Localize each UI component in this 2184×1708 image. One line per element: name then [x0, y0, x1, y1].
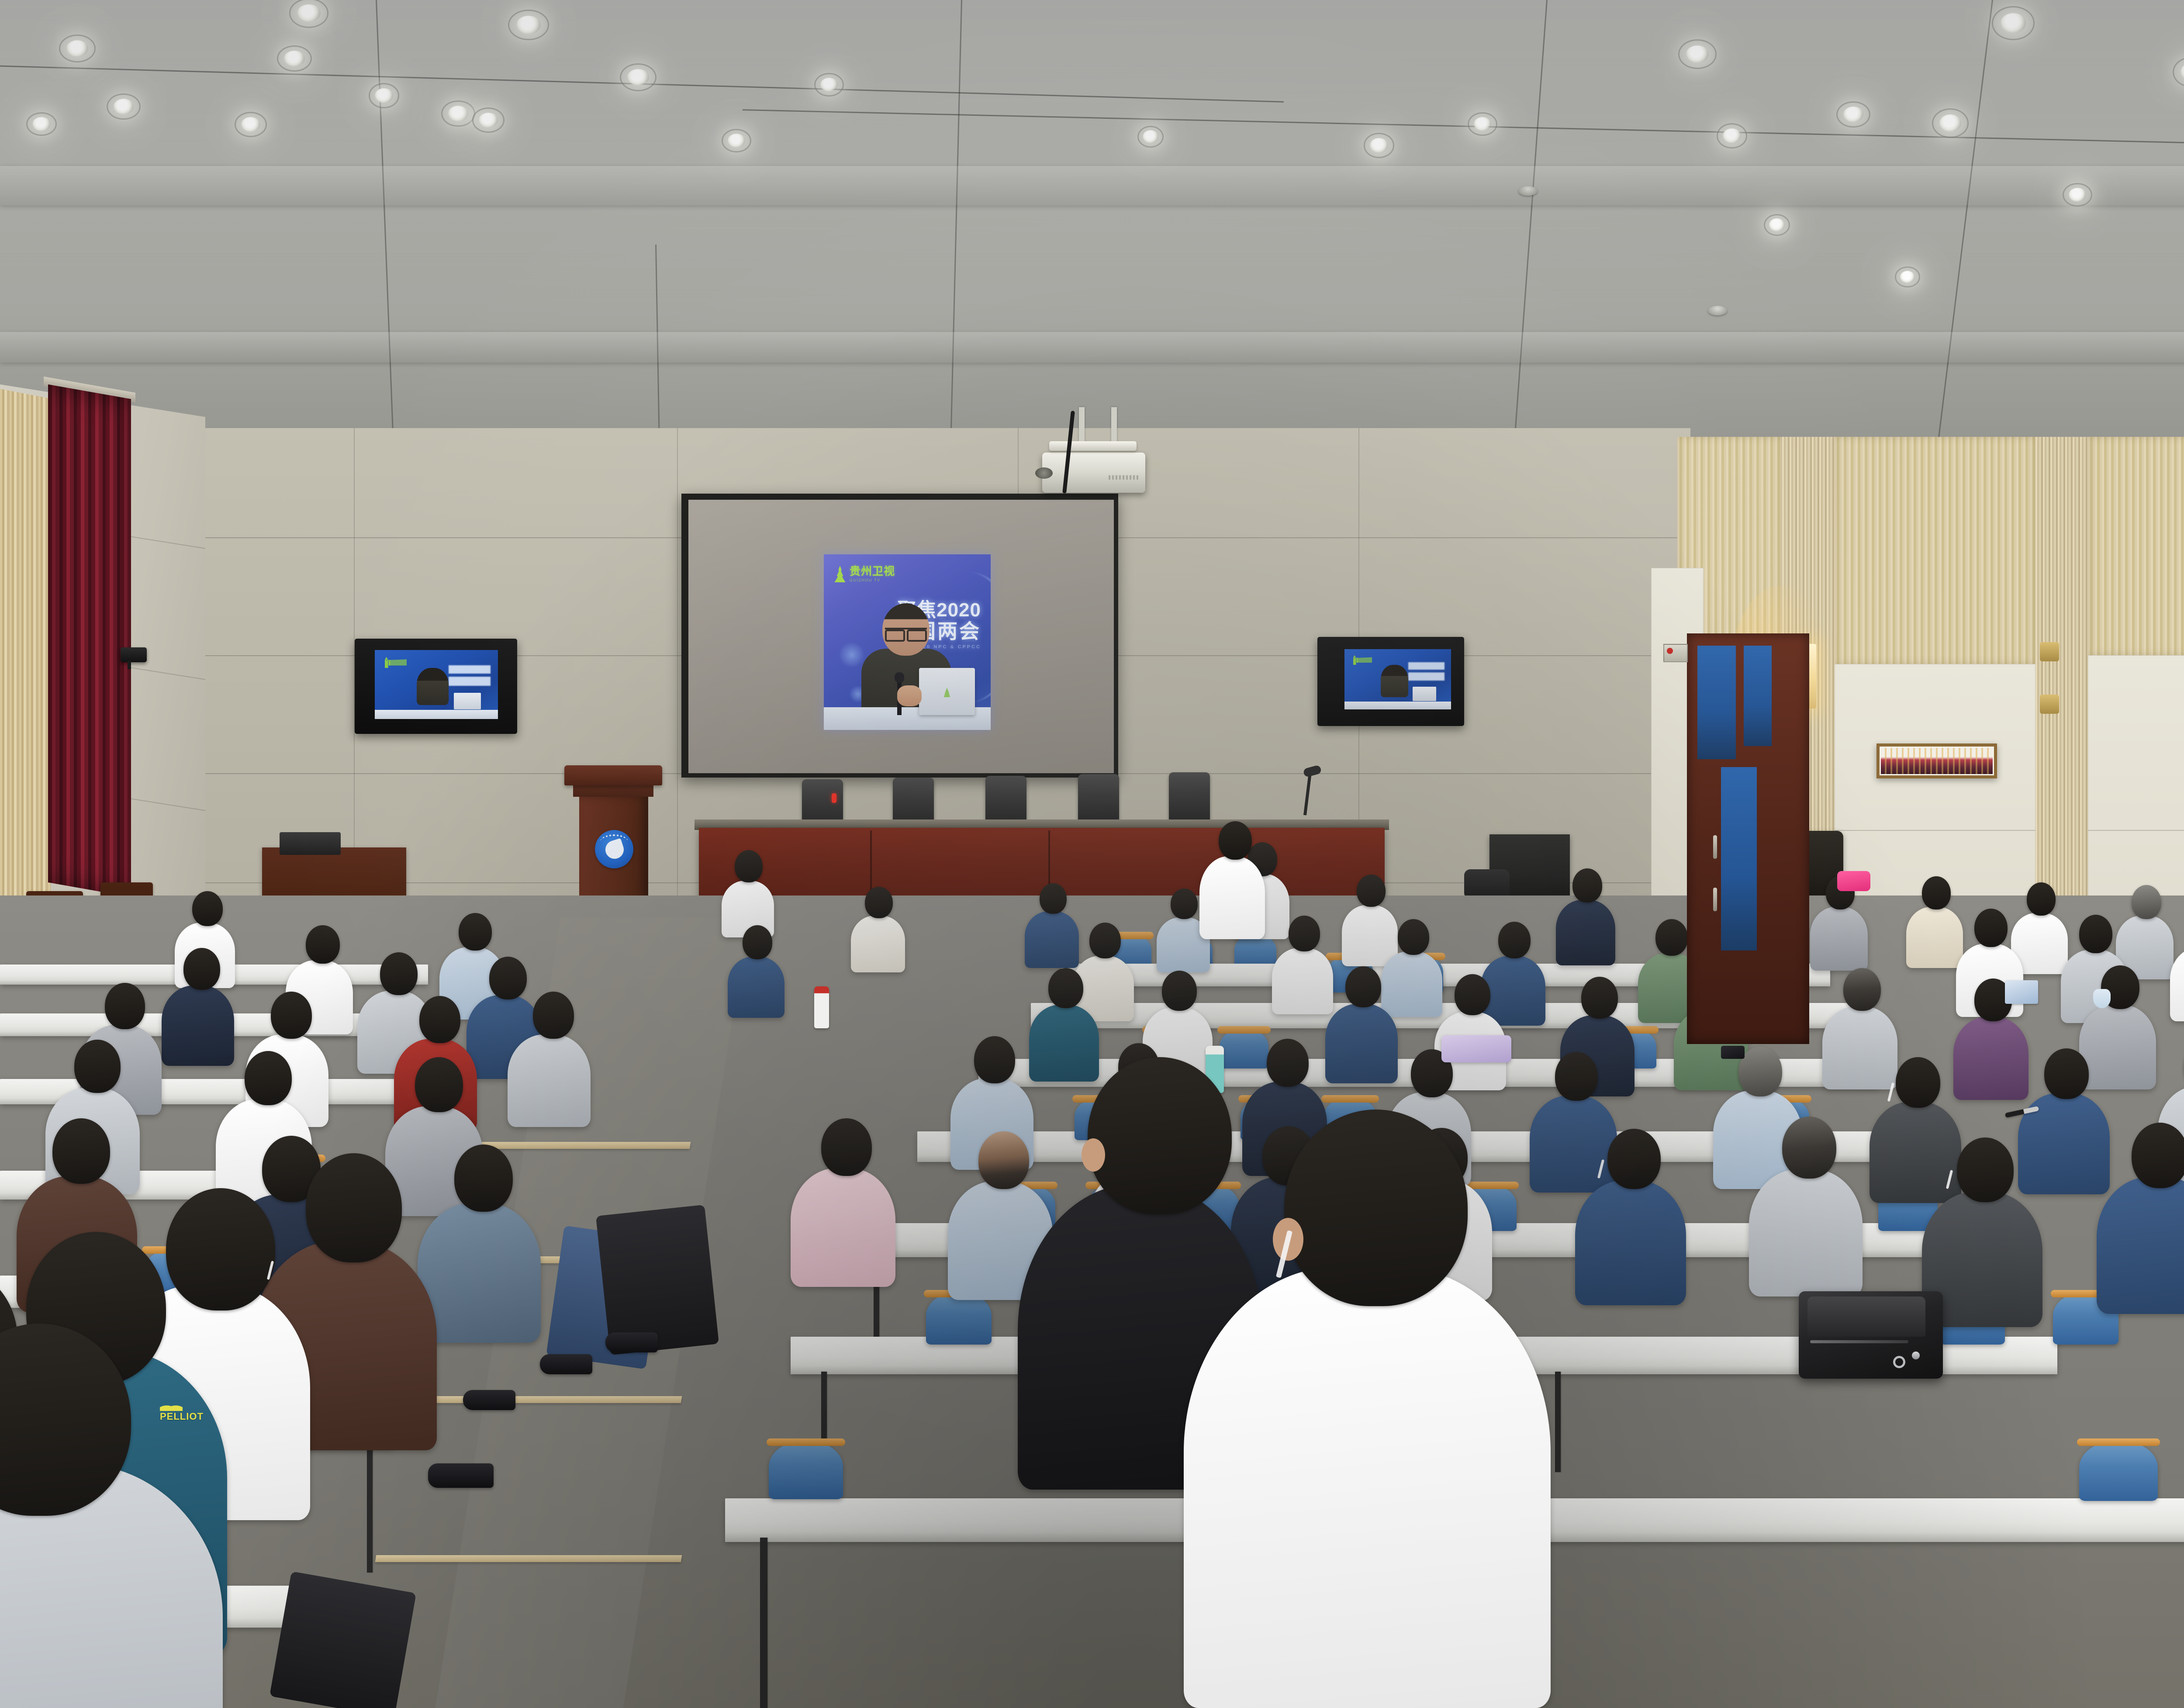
projector-arm — [1079, 407, 1085, 444]
ceiling-downlight — [284, 51, 305, 66]
wood-panel — [1835, 437, 2035, 664]
university-emblem-icon — [595, 830, 633, 868]
auditorium-seat[interactable] — [2079, 1442, 2158, 1501]
left-wood-trim — [0, 389, 51, 914]
recording-indicator — [832, 793, 836, 803]
folded-jacket — [1441, 1035, 1511, 1062]
anchor-hands — [897, 685, 922, 706]
broadcaster-name-cn: 贵州卫视 — [850, 566, 895, 577]
shoe — [463, 1390, 515, 1410]
ceiling-downlight — [114, 99, 134, 114]
wood-panel — [2088, 437, 2184, 655]
auditorium-seat[interactable] — [926, 1293, 992, 1345]
auditorium-seat[interactable] — [1220, 1029, 1268, 1068]
auditorium-seat[interactable] — [769, 1442, 843, 1499]
broadcaster-logo — [385, 657, 407, 668]
ceiling-projector — [1042, 453, 1145, 493]
smoke-detector-icon — [1708, 306, 1727, 315]
stage-chair[interactable] — [1078, 774, 1119, 823]
ceiling-downlight — [1723, 128, 1741, 143]
ceiling-downlight — [448, 106, 468, 121]
ceiling-downlight — [297, 4, 321, 22]
anchor-desk — [375, 710, 498, 719]
step-nosing — [375, 1555, 682, 1562]
wall-seam — [677, 428, 678, 944]
laptop-bag[interactable] — [1799, 1291, 1943, 1379]
lectern-neck — [573, 784, 653, 797]
shoe — [540, 1354, 592, 1374]
anchor-laptop — [454, 693, 481, 709]
ceiling-downlight — [1143, 130, 1158, 143]
ceiling-soffit-band — [0, 166, 2184, 205]
shoe — [428, 1463, 494, 1488]
broadcast-headline — [1408, 662, 1444, 680]
ceiling-downlight — [241, 117, 260, 132]
tv-screen — [1344, 649, 1451, 709]
ceiling-downlight — [1769, 218, 1785, 232]
projector-arm — [1111, 407, 1117, 444]
lecture-hall-photo: 贵州卫视 GUIZHOU TV 聚焦2020 全国两会 2020 NPC & C… — [0, 0, 2184, 1708]
ceiling-downlight — [2181, 63, 2184, 81]
ceiling-downlight — [1370, 138, 1388, 153]
bag-flap — [1807, 1297, 1926, 1337]
equipment-bag — [1464, 869, 1510, 899]
projector-mount-plate — [1049, 441, 1137, 451]
broadcaster-logo: 贵州卫视 GUIZHOU TV — [833, 566, 895, 582]
brand-logo-icon — [160, 1401, 183, 1411]
wall-seam — [1835, 830, 2035, 831]
ceiling-downlight — [66, 40, 88, 57]
door-window — [1697, 646, 1736, 759]
face-mask-icon — [2093, 989, 2111, 1008]
wall-speaker-icon — [121, 647, 147, 662]
projector-vent — [1109, 475, 1139, 480]
projector-lens-icon — [1035, 467, 1053, 479]
pagoda-icon — [833, 566, 847, 582]
anchor-figure — [1381, 665, 1408, 698]
ceiling-downlight — [627, 69, 649, 86]
ceiling-downlight — [32, 117, 51, 131]
bag-strap-ring — [1893, 1356, 1905, 1368]
door-window — [1721, 767, 1757, 951]
ceiling-downlight — [1939, 114, 1961, 132]
ceiling-soffit-band — [0, 332, 2184, 363]
ceiling-downlight — [516, 16, 541, 34]
glasses-icon — [885, 628, 927, 636]
emergency-call-box[interactable] — [1663, 644, 1688, 662]
bag-zipper — [1810, 1340, 1908, 1343]
anchor-desk — [1344, 702, 1451, 709]
pink-hair-band — [1837, 871, 1870, 891]
water-bottle[interactable] — [814, 986, 829, 1028]
desk-leg — [760, 1538, 767, 1708]
stage-chair[interactable] — [985, 776, 1026, 825]
ceiling-downlight — [1686, 45, 1709, 63]
ceiling-downlight — [479, 113, 498, 128]
shoe — [605, 1332, 658, 1352]
ceiling-downlight — [375, 88, 393, 103]
broadcaster-logo — [1353, 655, 1372, 665]
emblem-text-arc — [600, 834, 628, 849]
bag-stud — [1912, 1352, 1920, 1359]
jacket-brand-label: PELLIOT — [160, 1411, 204, 1422]
ceiling-downlight — [1843, 107, 1863, 122]
anchor-laptop — [1413, 687, 1436, 701]
ceiling-downlight — [820, 78, 838, 92]
tablet-device[interactable] — [2005, 980, 2038, 1004]
desk-leg — [367, 1446, 373, 1573]
ceiling-downlight — [1900, 271, 1915, 283]
tv-screen — [375, 650, 498, 719]
projected-broadcast: 贵州卫视 GUIZHOU TV 聚焦2020 全国两会 2020 NPC & C… — [824, 554, 991, 730]
lectern-top — [564, 765, 662, 785]
mobile-phone[interactable] — [1721, 1046, 1745, 1059]
projection-screen: 贵州卫视 GUIZHOU TV 聚焦2020 全国两会 2020 NPC & C… — [681, 494, 1118, 778]
ceiling-downlight — [2001, 13, 2026, 33]
ceiling-downlight — [1474, 117, 1491, 131]
tv-monitor-right — [1317, 637, 1464, 726]
broadcast-headline — [449, 665, 491, 686]
desk-leg — [1555, 1372, 1561, 1472]
stage-curtain — [48, 384, 131, 897]
smoke-detector-icon — [1518, 186, 1538, 196]
door-hinge-icon — [2040, 695, 2059, 714]
tv-monitor-left — [355, 639, 517, 734]
bokeh-dot — [839, 642, 865, 668]
stage-chair[interactable] — [1169, 772, 1210, 821]
anchor-figure — [417, 668, 449, 705]
wall-seam — [2088, 830, 2184, 831]
broadcaster-name-en: GUIZHOU TV — [850, 578, 895, 582]
ceiling-grid-line — [1929, 0, 1993, 512]
ceiling-downlight — [2069, 188, 2086, 202]
door-hinge-icon — [2040, 642, 2059, 661]
ceiling-downlight — [728, 134, 745, 148]
door-window — [1744, 646, 1772, 746]
screen-surface: 贵州卫视 GUIZHOU TV 聚焦2020 全国两会 2020 NPC & C… — [688, 500, 1114, 773]
anchor-laptop — [919, 668, 975, 715]
step-nosing — [410, 1396, 682, 1403]
equipment-box — [280, 832, 341, 855]
painting-artwork — [1880, 747, 1994, 775]
framed-painting — [1876, 743, 1997, 778]
seated-leg — [270, 1571, 416, 1708]
door-handle[interactable] — [1713, 835, 1717, 859]
door-handle[interactable] — [1713, 888, 1717, 911]
